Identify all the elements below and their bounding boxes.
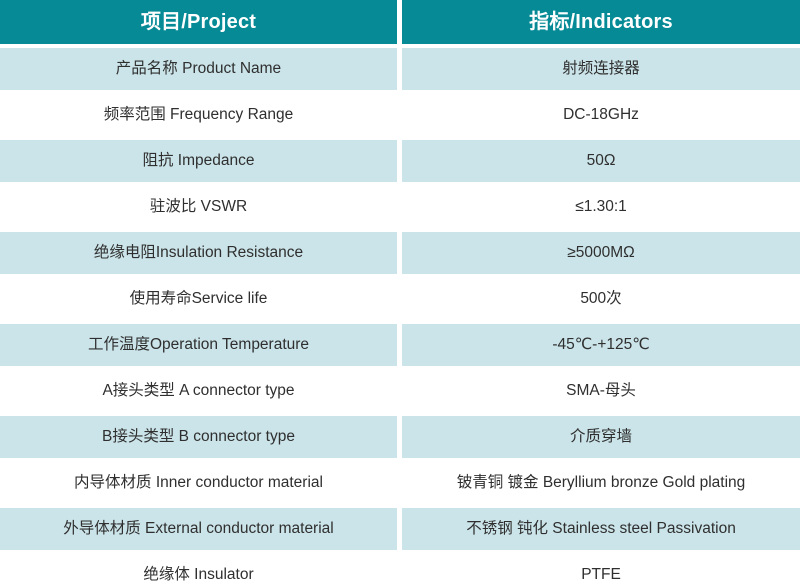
cell-project: 绝缘体 Insulator <box>0 554 397 588</box>
cell-project: A接头类型 A connector type <box>0 370 397 412</box>
cell-indicator: SMA-母头 <box>402 370 800 412</box>
cell-project: 内导体材质 Inner conductor material <box>0 462 397 504</box>
cell-indicator: 射频连接器 <box>402 48 800 90</box>
cell-project: 外导体材质 External conductor material <box>0 508 397 550</box>
table-row: 频率范围 Frequency Range DC-18GHz <box>0 94 800 136</box>
cell-project: 驻波比 VSWR <box>0 186 397 228</box>
cell-indicator: 介质穿墙 <box>402 416 800 458</box>
cell-project: 产品名称 Product Name <box>0 48 397 90</box>
table-row: 工作温度Operation Temperature -45℃-+125℃ <box>0 324 800 366</box>
table-row: B接头类型 B connector type 介质穿墙 <box>0 416 800 458</box>
table-row: A接头类型 A connector type SMA-母头 <box>0 370 800 412</box>
table-row: 使用寿命Service life 500次 <box>0 278 800 320</box>
table-row: 外导体材质 External conductor material 不锈钢 钝化… <box>0 508 800 550</box>
cell-indicator: ≥5000MΩ <box>402 232 800 274</box>
column-header-project: 项目/Project <box>0 0 397 44</box>
cell-project: 使用寿命Service life <box>0 278 397 320</box>
column-header-indicators: 指标/Indicators <box>402 0 800 44</box>
cell-indicator: ≤1.30:1 <box>402 186 800 228</box>
cell-indicator: 500次 <box>402 278 800 320</box>
table-row: 驻波比 VSWR ≤1.30:1 <box>0 186 800 228</box>
cell-indicator: 铍青铜 镀金 Beryllium bronze Gold plating <box>402 462 800 504</box>
cell-project: 频率范围 Frequency Range <box>0 94 397 136</box>
cell-indicator: DC-18GHz <box>402 94 800 136</box>
cell-project: 阻抗 Impedance <box>0 140 397 182</box>
table-row: 内导体材质 Inner conductor material 铍青铜 镀金 Be… <box>0 462 800 504</box>
table-row: 绝缘体 Insulator PTFE <box>0 554 800 588</box>
table-row: 产品名称 Product Name 射频连接器 <box>0 48 800 90</box>
cell-project: B接头类型 B connector type <box>0 416 397 458</box>
cell-project: 绝缘电阻Insulation Resistance <box>0 232 397 274</box>
table-row: 绝缘电阻Insulation Resistance ≥5000MΩ <box>0 232 800 274</box>
specification-table: 项目/Project 指标/Indicators 产品名称 Product Na… <box>0 0 800 588</box>
cell-project: 工作温度Operation Temperature <box>0 324 397 366</box>
cell-indicator: 不锈钢 钝化 Stainless steel Passivation <box>402 508 800 550</box>
cell-indicator: PTFE <box>402 554 800 588</box>
cell-indicator: 50Ω <box>402 140 800 182</box>
cell-indicator: -45℃-+125℃ <box>402 324 800 366</box>
table-row: 阻抗 Impedance 50Ω <box>0 140 800 182</box>
table-header-row: 项目/Project 指标/Indicators <box>0 0 800 44</box>
